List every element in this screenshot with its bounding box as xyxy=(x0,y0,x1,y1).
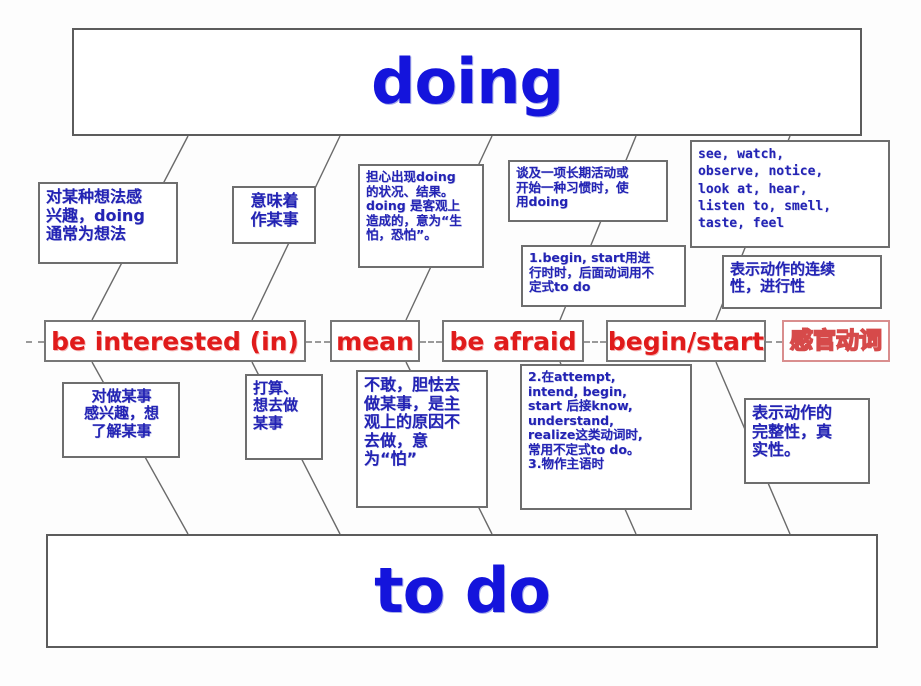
note-sensory-verb-list: see, watch, observe, notice, look at, he… xyxy=(690,140,890,248)
term-be-interested-in-label: be interested (in) xyxy=(51,329,299,354)
term-mean-label: mean xyxy=(336,329,414,354)
term-begin-start[interactable]: begin/start xyxy=(606,320,766,362)
term-connector-0 xyxy=(26,341,44,343)
note-begin-start-progressive: 1.begin, start用进 行时时，后面动词用不 定式to do xyxy=(521,245,686,307)
note-sensory-doing-meaning: 表示动作的连续 性，进行性 xyxy=(722,255,882,309)
banner-to-do-label: to do xyxy=(374,560,550,622)
note-begin-doing: 谈及一项长期活动或 开始一种习惯时，使 用doing xyxy=(508,160,668,222)
note-mean-doing: 意味着 作某事 xyxy=(232,186,316,244)
term-be-afraid[interactable]: be afraid xyxy=(442,320,584,362)
banner-to-do: to do xyxy=(46,534,878,648)
term-be-interested-in[interactable]: be interested (in) xyxy=(44,320,306,362)
verb-form-fishbone-diagram: doing 对某种想法感 兴趣，doing 通常为想法 意味着 作某事 担心出现… xyxy=(0,0,921,686)
term-be-afraid-label: be afraid xyxy=(450,329,577,354)
term-connector-2 xyxy=(420,341,442,343)
note-begin-start-todo: 2.在attempt, intend, begin, start 后接know,… xyxy=(520,364,692,510)
term-connector-4 xyxy=(766,341,782,343)
term-begin-start-label: begin/start xyxy=(608,329,764,354)
note-afraid-todo: 不敢，胆怯去 做某事，是主 观上的原因不 去做，意 为“怕” xyxy=(356,370,488,508)
note-interested-todo: 对做某事 感兴趣，想 了解某事 xyxy=(62,382,180,458)
term-sensory-verbs[interactable]: 感官动词 xyxy=(782,320,890,362)
note-afraid-doing: 担心出现doing 的状况、结果。 doing 是客观上 造成的，意为“生 怕，… xyxy=(358,164,484,268)
banner-doing: doing xyxy=(72,28,862,136)
term-connector-1 xyxy=(306,341,330,343)
note-sensory-todo-meaning: 表示动作的 完整性，真 实性。 xyxy=(744,398,870,484)
note-mean-todo: 打算、 想去做 某事 xyxy=(245,374,323,460)
term-sensory-verbs-label: 感官动词 xyxy=(790,330,882,353)
note-interested-doing: 对某种想法感 兴趣，doing 通常为想法 xyxy=(38,182,178,264)
term-connector-3 xyxy=(584,341,606,343)
banner-doing-label: doing xyxy=(371,51,563,113)
term-mean[interactable]: mean xyxy=(330,320,420,362)
